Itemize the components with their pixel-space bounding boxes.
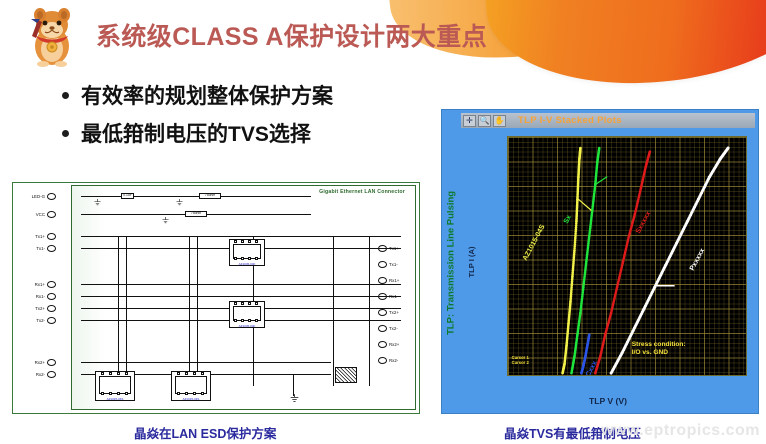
bullet-item-1-label: 有效率的规划整体保护方案 [81, 80, 333, 110]
zoom-tool-button[interactable]: 🔍 [478, 115, 491, 127]
series-Sx [570, 147, 600, 375]
bullet-item-2-label: 最低箝制电压的TVS选择 [81, 118, 311, 148]
pin-rx1n: Rx1- [19, 293, 56, 300]
cursor-legend: Cursor 1 Cursor 2 [512, 355, 529, 365]
orange-swoosh-decoration [480, 0, 766, 94]
wire-drop-1 [118, 236, 119, 386]
bullet-dot-icon [62, 92, 69, 99]
pin-circle-icon [378, 261, 387, 268]
pan-tool-button[interactable]: ✛ [463, 115, 476, 127]
leader-line [577, 198, 591, 210]
bullet-dot-icon [62, 130, 69, 137]
page-title: 系统级CLASS A保护设计两大重点 [96, 17, 487, 53]
pin-circle-icon [47, 245, 56, 252]
wire-rx1n [81, 296, 401, 297]
wire-drop-4 [197, 236, 198, 386]
hamster-mascot-icon [24, 6, 80, 68]
pin-rx2n: Rx2- [19, 371, 56, 378]
chart-titlebar: ✛ 🔍 ✋ TLP I-V Stacked Plots [461, 113, 755, 128]
pin-rx1p: Rx1+ [19, 281, 56, 288]
pin-circle-icon [47, 281, 56, 288]
chart-title: TLP I-V Stacked Plots [518, 115, 622, 126]
pin-circle-icon [47, 233, 56, 240]
bullet-item-1: 有效率的规划整体保护方案 [62, 80, 333, 110]
series-AZ1015-04S [561, 147, 581, 375]
watermark: www.eptropics.com [601, 422, 760, 440]
series-plot-svg [508, 137, 746, 375]
tvs-ic-1: AZ1045-04F [229, 239, 265, 266]
wire-led [81, 196, 311, 197]
circuit-diagram-image: Gigabit Ethernet LAN Connector LED-G VCC… [12, 182, 420, 414]
tlp-definition-label: TLP: Transmission Line Pulsing [443, 148, 459, 378]
out-pin-tx1n: Tx1- [378, 261, 413, 268]
wire-rx1p [81, 284, 401, 285]
cursor-legend-2: Cursor 2 [512, 360, 529, 365]
pin-tx1p: Tx1+ [19, 233, 56, 240]
pin-led-g: LED-G [19, 193, 56, 200]
out-pin-tx2p: Tx2+ [378, 309, 413, 316]
leader-line [595, 177, 607, 185]
pin-circle-icon [378, 277, 387, 284]
x-axis-title: TLP V (V) [461, 396, 755, 406]
tvs-ic-2-label: AZ1045-04F [230, 324, 264, 328]
out-pin-rx2n: Rx2- [378, 357, 413, 364]
component-res-2: 75ohm [185, 211, 207, 217]
out-pin-rx2p: Rx2+ [378, 341, 413, 348]
stress-condition-line-2: I/O vs. GND [632, 349, 686, 358]
wire-drop-6 [333, 236, 334, 386]
pin-circle-icon [47, 371, 56, 378]
pin-circle-icon [378, 357, 387, 364]
pin-circle-icon [378, 325, 387, 332]
pin-circle-icon [47, 293, 56, 300]
pin-rx2p: Rx2+ [19, 359, 56, 366]
ground-icon [289, 394, 300, 403]
chart-window: ✛ 🔍 ✋ TLP I-V Stacked Plots TLP I (A) TL… [461, 113, 755, 410]
pin-tx2n: Tx2- [19, 317, 56, 324]
wire-drop-3 [189, 236, 190, 386]
tvs-ic-4: AZ1015-04S [171, 371, 211, 401]
pin-circle-icon [47, 359, 56, 366]
plot-area[interactable]: 6.5E+06.0E+05.5E+05.0E+04.5E+04.0E+03.5E… [507, 136, 747, 376]
out-pin-rx1p: Rx1+ [378, 277, 413, 284]
chassis-ground-icon [335, 367, 357, 383]
tvs-ic-3-label: AZ1015-04S [96, 397, 134, 401]
tvs-ic-3: AZ1015-04S [95, 371, 135, 401]
ground-icon [161, 217, 170, 224]
wire-tx1p [81, 236, 401, 237]
pin-circle-icon [47, 305, 56, 312]
out-pin-tx2n: Tx2- [378, 325, 413, 332]
bullet-item-2: 最低箝制电压的TVS选择 [62, 118, 311, 148]
hand-tool-button[interactable]: ✋ [493, 115, 506, 127]
pin-circle-icon [47, 211, 56, 218]
pin-circle-icon [47, 317, 56, 324]
stress-condition-line-1: Stress condition: [632, 341, 686, 350]
y-axis-title: TLP I (A) [467, 246, 476, 277]
caption-left: 晶焱在LAN ESD保护方案 [134, 423, 276, 442]
pin-circle-icon [47, 193, 56, 200]
pin-tx1n: Tx1- [19, 245, 56, 252]
wire-drop-2 [126, 236, 127, 386]
wire-drop-7 [369, 236, 370, 386]
pin-circle-icon [378, 309, 387, 316]
stress-condition-annotation: Stress condition: I/O vs. GND [632, 341, 686, 359]
tvs-ic-1-label: AZ1045-04F [230, 262, 264, 266]
pin-tx2p: Tx2+ [19, 305, 56, 312]
pin-vcc: VCC [19, 211, 56, 218]
pin-circle-icon [378, 341, 387, 348]
ground-icon [93, 199, 102, 206]
component-res-1: 75ohm [199, 193, 221, 199]
tvs-ic-2: AZ1045-04F [229, 301, 265, 328]
connector-label: Gigabit Ethernet LAN Connector [319, 189, 405, 195]
tvs-ic-4-label: AZ1015-04S [172, 397, 210, 401]
wire-gnd-drop [293, 374, 294, 396]
ground-icon [175, 199, 184, 206]
component-cap-1: 0.1uF [121, 193, 134, 199]
tlp-chart-panel: TLP: Transmission Line Pulsing ✛ 🔍 ✋ TLP… [441, 109, 759, 414]
